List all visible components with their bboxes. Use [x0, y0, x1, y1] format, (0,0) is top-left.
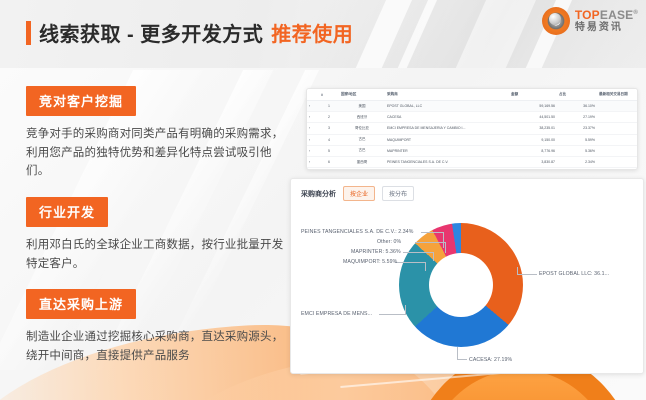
cell-share: 2.34% [557, 156, 597, 167]
page-title-main: 线索获取 - 更多开发方式 [39, 18, 263, 47]
feature-tag-industry-development: 行业开发 [26, 197, 108, 227]
page-title: 线索获取 - 更多开发方式 推荐使用 [26, 18, 353, 47]
cell-date: 2022-02-24 [597, 156, 638, 167]
feature-item: 直达采购上游 制造业企业通过挖掘核心采购商，直达采购源头，绕开中间商，直接提供产… [26, 289, 288, 365]
cell-country: 墨西哥 [339, 156, 385, 167]
page-header: 线索获取 - 更多开发方式 推荐使用 TOPEASE® 特易资讯 [0, 0, 646, 68]
feature-tag-competitor-customers: 竞对客户挖掘 [26, 86, 136, 116]
buyer-analysis-panel: 采购商分析 按企业 按分布 PEINES TANGENCIALES S.A. D… [290, 178, 644, 374]
leader-line [443, 232, 444, 248]
row-expand-icon[interactable]: › [307, 101, 319, 112]
brand-logo: TOPEASE® 特易资讯 [542, 7, 638, 35]
table-header-row: # 国家/地区 采购商 金额 占比 最新相关交易日期 [307, 89, 638, 101]
cell-date: 2024-12-16 [597, 145, 638, 156]
table-row[interactable]: › 1 美国 EPOST GLOBAL, LLC 59,169.56 36.10… [307, 101, 638, 112]
cell-company[interactable]: PEINES TANGENCIALES S.A. DE C.V. [385, 156, 509, 167]
cell-country: 西班牙 [339, 112, 385, 123]
cell-share: 27.19% [557, 112, 597, 123]
slice-label-maprinter: MAPRINTER: 5.36% [351, 249, 401, 255]
donut-chart: PEINES TANGENCIALES S.A. DE C.V.: 2.34% … [291, 201, 643, 367]
table-row[interactable]: › 5 古巴 MAPRINTER 8,776.96 5.36% 2024-12-… [307, 145, 638, 156]
leader-line [415, 242, 445, 243]
leader-line [517, 274, 537, 275]
leader-line [457, 347, 458, 360]
cell-date: 2024-12-03 [597, 134, 638, 145]
registered-mark: ® [633, 10, 638, 16]
table-body: › 1 美国 EPOST GLOBAL, LLC 59,169.56 36.10… [307, 101, 638, 168]
row-expand-icon[interactable]: › [307, 134, 319, 145]
table-row[interactable]: › 2 西班牙 CACESA 44,501.50 27.19% 2024-11-… [307, 112, 638, 123]
feature-body: 竞争对手的采购商对同类产品有明确的采购需求，利用您产品的独特优势和差异化特点尝试… [26, 125, 288, 181]
column-header-company[interactable]: 采购商 [385, 89, 509, 101]
cell-share: 5.59% [557, 134, 597, 145]
table-row[interactable]: › 4 古巴 MAQUIMPORT 9,150.00 5.59% 2024-12… [307, 134, 638, 145]
feature-body: 制造业企业通过挖掘核心采购商，直达采购源头，绕开中间商，直接提供产品服务 [26, 328, 288, 365]
cell-date: 2024-12-03 [597, 123, 638, 134]
row-expand-icon[interactable]: › [307, 112, 319, 123]
slice-label-emci: EMCI EMPRESA DE MENS... [301, 311, 372, 317]
column-header-index[interactable]: # [319, 89, 339, 101]
brand-logo-text: TOPEASE® 特易资讯 [575, 9, 638, 33]
slice-label-maquimport: MAQUIMPORT: 5.59% [343, 259, 397, 265]
leader-line [433, 252, 434, 261]
leader-line [421, 232, 443, 233]
title-accent-bar [26, 21, 31, 45]
cell-share: 36.10% [557, 101, 597, 112]
buyer-table: # 国家/地区 采购商 金额 占比 最新相关交易日期 › 1 美国 EPOST … [307, 89, 638, 168]
cell-amount: 8,776.96 [509, 145, 557, 156]
feature-item: 竞对客户挖掘 竞争对手的采购商对同类产品有明确的采购需求，利用您产品的独特优势和… [26, 86, 288, 181]
cell-country: 美国 [339, 101, 385, 112]
feature-item: 行业开发 利用邓白氏的全球企业工商数据，按行业批量开发特定客户。 [26, 197, 288, 273]
cell-index: 3 [319, 123, 339, 134]
cell-index: 2 [319, 112, 339, 123]
feature-body: 利用邓白氏的全球企业工商数据，按行业批量开发特定客户。 [26, 236, 288, 273]
expand-column-header [307, 89, 319, 101]
feature-list: 竞对客户挖掘 竞争对手的采购商对同类产品有明确的采购需求，利用您产品的独特优势和… [26, 86, 288, 381]
ring-logo-icon [542, 7, 570, 35]
brand-name-part2: EASE [600, 8, 633, 22]
row-expand-icon[interactable]: › [307, 123, 319, 134]
cell-amount: 3,830.87 [509, 156, 557, 167]
brand-name-cn: 特易资讯 [575, 23, 638, 33]
leader-line [517, 267, 518, 275]
cell-index: 5 [319, 145, 339, 156]
donut-center-hole [429, 253, 493, 317]
leader-line [445, 242, 446, 253]
chart-header: 采购商分析 按企业 按分布 [291, 179, 643, 201]
buyer-table-panel: # 国家/地区 采购商 金额 占比 最新相关交易日期 › 1 美国 EPOST … [306, 88, 638, 170]
cell-index: 4 [319, 134, 339, 145]
brand-name-part1: TOP [575, 8, 600, 22]
slice-label-peines-tangenciales: PEINES TANGENCIALES S.A. DE C.V.: 2.34% [301, 229, 414, 235]
feature-tag-direct-upstream: 直达采购上游 [26, 289, 136, 319]
cell-date: 2024-11-20 [597, 112, 638, 123]
table-row[interactable]: › 3 哥伦比亚 EMCI EMPRESA DE MENSAJERIA Y CA… [307, 123, 638, 134]
cell-share: 5.36% [557, 145, 597, 156]
column-header-last-trade-date[interactable]: 最新相关交易日期 [597, 89, 638, 101]
cell-country: 古巴 [339, 134, 385, 145]
row-expand-icon[interactable]: › [307, 145, 319, 156]
cell-company[interactable]: EPOST GLOBAL, LLC [385, 101, 509, 112]
leader-line [403, 252, 433, 253]
cell-amount: 59,169.56 [509, 101, 557, 112]
cell-index: 1 [319, 101, 339, 112]
cell-index: 6 [319, 156, 339, 167]
page-title-accent: 推荐使用 [271, 18, 353, 47]
cell-company[interactable]: EMCI EMPRESA DE MENSAJERIA Y CAMBIO I... [385, 123, 509, 134]
cell-company[interactable]: MAQUIMPORT [385, 134, 509, 145]
cell-amount: 44,501.50 [509, 112, 557, 123]
cell-share: 23.37% [557, 123, 597, 134]
column-header-country[interactable]: 国家/地区 [339, 89, 385, 101]
chart-panel-title: 采购商分析 [301, 189, 336, 199]
column-header-share[interactable]: 占比 [557, 89, 597, 101]
slice-label-epost-global: EPOST GLOBAL LLC: 36.1... [539, 271, 609, 277]
slice-label-other: Other: 0% [377, 239, 401, 245]
tab-by-company[interactable]: 按企业 [343, 186, 375, 201]
column-header-amount[interactable]: 金额 [509, 89, 557, 101]
row-expand-icon[interactable]: › [307, 156, 319, 167]
leader-line [425, 262, 426, 271]
cell-company[interactable]: MAPRINTER [385, 145, 509, 156]
leader-line [395, 262, 425, 263]
cell-amount: 38,235.01 [509, 123, 557, 134]
tab-by-distribution[interactable]: 按分布 [382, 186, 414, 201]
cell-date: 2024-11-20 [597, 101, 638, 112]
cell-country: 古巴 [339, 145, 385, 156]
leader-line [379, 314, 405, 315]
slice-label-cacesa: CACESA: 27.19% [469, 357, 512, 363]
leader-line [457, 359, 467, 360]
leader-line [405, 305, 406, 315]
cell-company[interactable]: CACESA [385, 112, 509, 123]
cell-amount: 9,150.00 [509, 134, 557, 145]
cell-country: 哥伦比亚 [339, 123, 385, 134]
table-row[interactable]: › 6 墨西哥 PEINES TANGENCIALES S.A. DE C.V.… [307, 156, 638, 167]
